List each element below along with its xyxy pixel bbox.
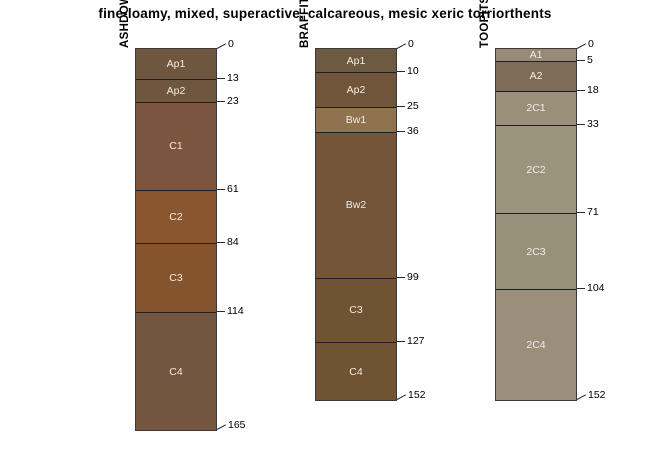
tick-mark: [217, 189, 225, 190]
horizon-2c2[interactable]: 2C2: [496, 125, 576, 213]
profile-name-label: ASHDOWN: [119, 0, 131, 48]
horizon-2c4[interactable]: 2C4: [496, 289, 576, 400]
chart-title: fine-loamy, mixed, superactive, calcareo…: [0, 6, 650, 21]
tick-mark: [217, 311, 225, 312]
profile-name-label: BRAFFITS: [299, 0, 311, 48]
depth-value: 10: [407, 65, 419, 77]
horizon-2c1[interactable]: 2C1: [496, 91, 576, 126]
tick-connector: [217, 43, 226, 49]
soil-profile-chart: fine-loamy, mixed, superactive, calcareo…: [0, 0, 650, 450]
horizon-a2[interactable]: A2: [496, 61, 576, 91]
tick-connector: [577, 394, 586, 400]
horizon-ap1[interactable]: Ap1: [316, 49, 396, 72]
horizon-c2[interactable]: C2: [136, 190, 216, 243]
depth-value: 152: [588, 389, 606, 401]
horizon-c1[interactable]: C1: [136, 102, 216, 190]
horizon-label: Bw1: [346, 114, 366, 126]
horizon-label: Bw2: [346, 199, 366, 211]
profile-name-label: TOOPITS: [479, 0, 491, 48]
tick-mark: [397, 277, 405, 278]
tick-mark: [577, 288, 585, 289]
horizon-label: Ap2: [167, 85, 186, 97]
tick-mark: [217, 242, 225, 243]
horizon-ap2[interactable]: Ap2: [136, 79, 216, 102]
horizon-label: C3: [169, 272, 182, 284]
depth-value: 104: [587, 282, 605, 294]
tick-connector: [577, 43, 586, 49]
depth-value: 23: [227, 95, 239, 107]
horizon-a1[interactable]: A1: [496, 49, 576, 61]
tick-mark: [397, 131, 405, 132]
depth-value: 71: [587, 206, 599, 218]
horizon-2c3[interactable]: 2C3: [496, 213, 576, 289]
depth-value: 33: [587, 118, 599, 130]
horizon-ap2[interactable]: Ap2: [316, 72, 396, 107]
depth-value: 99: [407, 271, 419, 283]
tick-mark: [577, 90, 585, 91]
depth-value: 13: [227, 72, 239, 84]
horizon-label: 2C2: [526, 164, 545, 176]
tick-mark: [217, 78, 225, 79]
tick-connector: [397, 394, 406, 400]
horizon-c4[interactable]: C4: [316, 342, 396, 400]
horizon-label: 2C3: [526, 246, 545, 258]
tick-mark: [217, 101, 225, 102]
horizon-label: Ap1: [167, 58, 186, 70]
tick-mark: [577, 124, 585, 125]
horizon-label: C3: [349, 304, 362, 316]
depth-value: 127: [407, 335, 425, 347]
horizon-label: A2: [530, 70, 543, 82]
horizon-ap1[interactable]: Ap1: [136, 49, 216, 79]
tick-mark: [397, 106, 405, 107]
horizon-c3[interactable]: C3: [136, 243, 216, 312]
depth-value: 18: [587, 84, 599, 96]
horizon-stack: Ap1Ap2C1C2C3C4: [135, 48, 217, 431]
horizon-label: Ap2: [347, 84, 366, 96]
tick-mark: [397, 71, 405, 72]
depth-value: 61: [227, 183, 239, 195]
horizon-stack: Ap1Ap2Bw1Bw2C3C4: [315, 48, 397, 401]
horizon-label: Ap1: [347, 55, 366, 67]
horizon-bw1[interactable]: Bw1: [316, 107, 396, 132]
depth-value: 84: [227, 236, 239, 248]
tick-connector: [217, 424, 226, 430]
horizon-c3[interactable]: C3: [316, 278, 396, 343]
depth-value: 0: [228, 38, 234, 50]
horizon-stack: A1A22C12C22C32C4: [495, 48, 577, 401]
horizon-label: C2: [169, 211, 182, 223]
horizon-label: C1: [169, 140, 182, 152]
depth-value: 36: [407, 125, 419, 137]
depth-value: 25: [407, 100, 419, 112]
depth-value: 114: [227, 305, 244, 317]
depth-value: 0: [588, 38, 594, 50]
horizon-c4[interactable]: C4: [136, 312, 216, 430]
horizon-label: C4: [169, 366, 182, 378]
depth-value: 5: [587, 54, 593, 66]
horizon-label: A1: [530, 49, 543, 61]
horizon-label: 2C1: [526, 102, 545, 114]
horizon-label: 2C4: [526, 339, 545, 351]
tick-mark: [577, 212, 585, 213]
tick-mark: [397, 341, 405, 342]
tick-connector: [397, 43, 406, 49]
depth-value: 165: [228, 419, 246, 431]
tick-mark: [577, 60, 585, 61]
depth-value: 0: [408, 38, 414, 50]
horizon-label: C4: [349, 366, 362, 378]
horizon-bw2[interactable]: Bw2: [316, 132, 396, 277]
depth-value: 152: [408, 389, 426, 401]
